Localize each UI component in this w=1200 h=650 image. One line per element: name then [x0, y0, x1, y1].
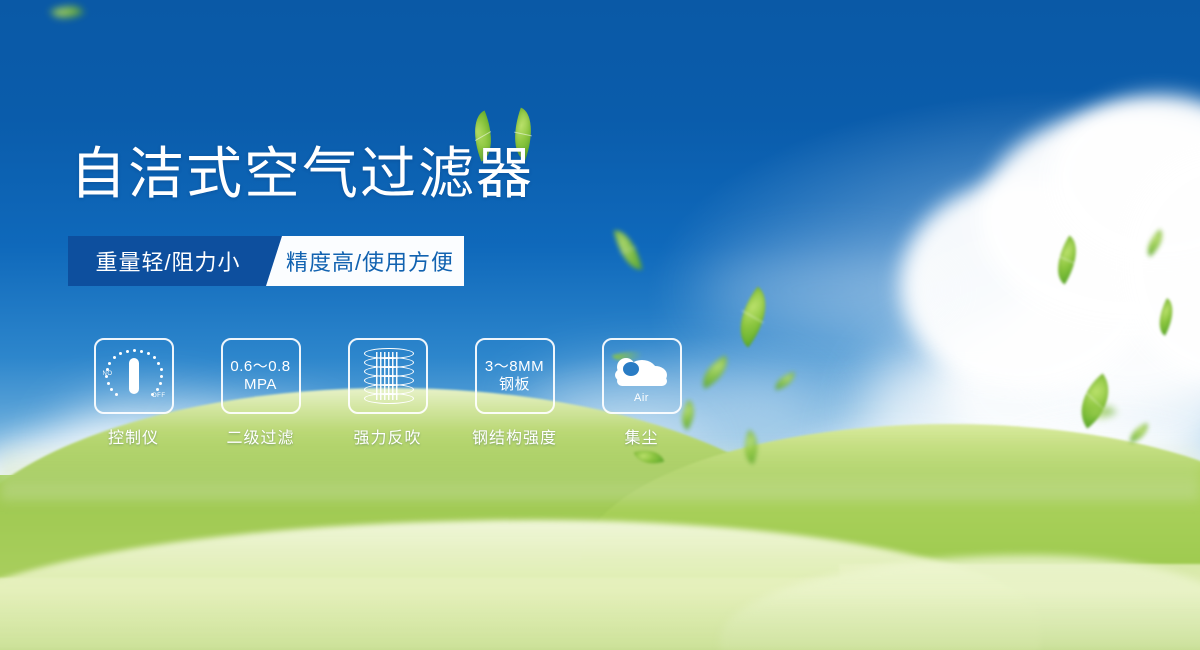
- feature-list: NO OFF 控制仪 0.6～0.8 MPA 二级过滤: [70, 338, 705, 448]
- feature-item-dust-collection[interactable]: Air 集尘: [578, 338, 705, 448]
- leaf-icon: [614, 226, 643, 273]
- control-dial-icon: NO OFF: [104, 347, 164, 405]
- cloud-shape: [700, 250, 960, 330]
- filter-coil-icon: [364, 348, 412, 404]
- feature-icon-box: NO OFF: [94, 338, 174, 414]
- air-cloud-icon: Air: [613, 350, 671, 402]
- feature-icon-box: [348, 338, 428, 414]
- subtitle-left-text: 重量轻/阻力小: [95, 245, 240, 277]
- feature-label: 钢结构强度: [472, 424, 557, 448]
- feature-item-control-dial[interactable]: NO OFF 控制仪: [70, 338, 197, 448]
- air-caption: Air: [613, 392, 671, 404]
- feature-icon-box: Air: [602, 338, 682, 414]
- grass-shadow: [0, 590, 1200, 650]
- feature-item-steel-strength[interactable]: 3～8MM 钢板 钢结构强度: [451, 338, 578, 448]
- feature-item-secondary-filter[interactable]: 0.6～0.8 MPA 二级过滤: [197, 338, 324, 448]
- subtitle-right-segment: 精度高/使用方便: [266, 236, 464, 286]
- feature-icon-text-line-2: MPA: [244, 376, 277, 394]
- feature-label: 强力反吹: [353, 424, 421, 448]
- subtitle-right-text: 精度高/使用方便: [276, 245, 454, 277]
- feature-icon-text-line-2: 钢板: [499, 376, 530, 394]
- grass-field: [0, 475, 1200, 650]
- subtitle-left-segment: 重量轻/阻力小: [68, 236, 268, 286]
- page-title: 自洁式空气过滤器: [70, 146, 534, 202]
- grass-horizon-blend: [0, 440, 1200, 500]
- subtitle-bar: 重量轻/阻力小 精度高/使用方便: [68, 236, 464, 286]
- feature-label: 集尘: [624, 424, 658, 448]
- feature-label: 二级过滤: [226, 424, 294, 448]
- leaf-icon: [50, 0, 84, 26]
- feature-icon-box: 0.6～0.8 MPA: [221, 338, 301, 414]
- feature-label: 控制仪: [108, 424, 159, 448]
- promo-banner: 自洁式空气过滤器 重量轻/阻力小 精度高/使用方便: [0, 0, 1200, 650]
- feature-icon-text-line-1: 3～8MM: [485, 358, 544, 376]
- feature-item-back-blow[interactable]: 强力反吹: [324, 338, 451, 448]
- dial-needle: [129, 358, 139, 394]
- dial-label-on: NO: [103, 371, 113, 377]
- feature-icon-text-line-1: 0.6～0.8: [230, 358, 290, 376]
- dial-label-off: OFF: [152, 393, 166, 399]
- feature-icon-box: 3～8MM 钢板: [475, 338, 555, 414]
